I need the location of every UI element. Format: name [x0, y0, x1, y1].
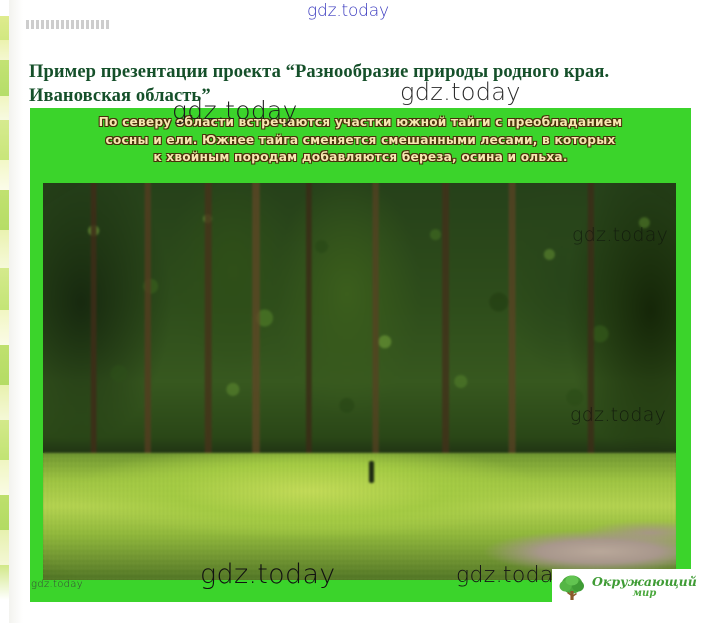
- left-edge-shadow: [9, 0, 23, 623]
- site-logo[interactable]: Окружающий мир: [552, 569, 692, 607]
- slide-caption-line-1: По северу области встречаются участки юж…: [30, 114, 691, 132]
- tree-icon: [556, 572, 588, 604]
- slide-caption-line-2: сосны и ели. Южнее тайга сменяется смеша…: [30, 132, 691, 150]
- presentation-slide: По северу области встречаются участки юж…: [30, 108, 691, 602]
- photo-blur-vignette: [43, 183, 676, 580]
- logo-line-2: мир: [592, 588, 697, 600]
- left-edge-decoration: [0, 0, 9, 623]
- logo-line-1: Окружающий: [592, 576, 697, 588]
- slide-caption-line-3: к хвойным породам добавляются береза, ос…: [30, 149, 691, 167]
- cropped-text-fragment: [26, 20, 110, 29]
- slide-caption: По северу области встречаются участки юж…: [30, 114, 691, 167]
- page-title: Пример презентации проекта “Разнообразие…: [29, 60, 674, 108]
- logo-text: Окружающий мир: [592, 576, 697, 600]
- forest-photograph: [43, 183, 676, 580]
- watermark-top: gdz.today: [307, 1, 389, 21]
